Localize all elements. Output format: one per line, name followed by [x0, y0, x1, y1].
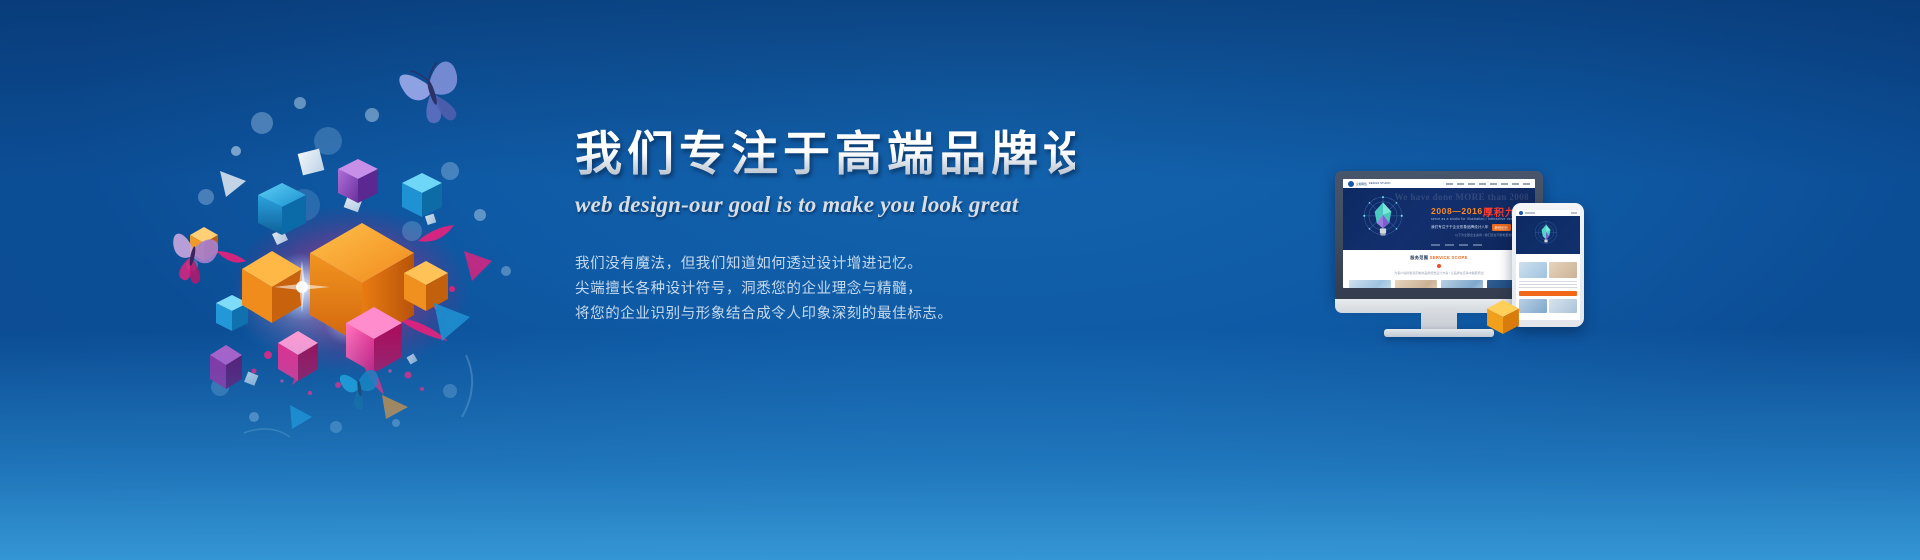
site-service-section: 服务范围 SERVICE SCOPE 为客户提供量身定制的品牌视觉设计方案 / … [1343, 250, 1535, 288]
thumbnail-grid [1343, 275, 1535, 288]
monitor-stand-base [1384, 329, 1494, 337]
page-title: 我们专注于高端品牌设计 [575, 128, 1075, 181]
nav-item[interactable] [1501, 183, 1508, 185]
hero-years: 2008—2016 [1431, 206, 1483, 216]
nav-item[interactable] [1523, 183, 1530, 185]
nav-item[interactable] [1512, 183, 1519, 185]
text-line [1519, 284, 1577, 285]
hero-cta-text: 我们专注于于企业形象品牌设计八年 [1431, 225, 1489, 230]
butterfly-icon [397, 58, 470, 132]
nav-item[interactable] [1468, 183, 1475, 185]
monitor-screen: 尖端网络 DESIGN STUDIO [1343, 179, 1535, 288]
phone-thumb[interactable] [1519, 262, 1547, 278]
page-subtitle: web design-our goal is to make you look … [575, 192, 1075, 218]
phone-thumb[interactable] [1549, 299, 1577, 313]
description-line: 尖端擅长各种设计符号，洞悉您的企业理念与精髓， [575, 277, 1075, 302]
text-line [1519, 281, 1577, 282]
floating-cube-icon [1487, 300, 1519, 334]
phone-bottom-grid [1516, 296, 1580, 316]
site-header: 尖端网络 DESIGN STUDIO [1343, 179, 1535, 188]
phone-logo-text [1525, 212, 1535, 214]
section-title: 服务范围 SERVICE SCOPE [1343, 255, 1535, 261]
monitor-stand-neck [1421, 308, 1457, 331]
lightbulb-network-icon [1530, 219, 1562, 251]
section-title-accent: SERVICE SCOPE [1430, 255, 1468, 260]
hero-cta-row: 我们专注于于企业形象品牌设计八年 新世纪元 [1431, 224, 1511, 231]
thumbnail-item[interactable] [1441, 280, 1483, 288]
text-line [1519, 287, 1577, 288]
description-line: 将您的企业识别与形象结合成令人印象深刻的最佳标志。 [575, 302, 1075, 327]
abstract-cubes-artwork [150, 55, 570, 455]
slider-dot[interactable] [1473, 244, 1482, 246]
logo-mark-icon [1348, 181, 1354, 187]
thumbnail-item[interactable] [1395, 280, 1437, 288]
butterfly-icon [339, 369, 382, 412]
hero-ghost-text: We have done MORE than 2008 [1394, 192, 1529, 202]
section-title-text: 服务范围 [1410, 255, 1428, 260]
site-nav[interactable] [1446, 183, 1530, 185]
phone-thumb[interactable] [1549, 262, 1577, 278]
phone-text-lines [1516, 281, 1580, 288]
hero-banner: 我们专注于高端品牌设计 web design-our goal is to ma… [0, 0, 1920, 560]
site-hero: We have done MORE than 2008 2008—2016 厚积… [1343, 188, 1535, 250]
slider-dot[interactable] [1445, 244, 1454, 246]
hero-cta-button[interactable]: 新世纪元 [1492, 224, 1512, 231]
slider-dot[interactable] [1459, 244, 1468, 246]
nav-item[interactable] [1490, 183, 1497, 185]
description-line: 我们没有魔法，但我们知道如何透过设计增进记忆。 [575, 252, 1075, 277]
site-logo: 尖端网络 DESIGN STUDIO [1348, 181, 1391, 187]
site-logo-subtext: DESIGN STUDIO [1369, 182, 1391, 185]
mobile-phone-mockup [1512, 203, 1584, 327]
banner-copy: 我们专注于高端品牌设计 web design-our goal is to ma… [575, 128, 1075, 327]
slider-dot[interactable] [1431, 244, 1440, 246]
phone-screen [1516, 210, 1580, 320]
nav-item[interactable] [1479, 183, 1486, 185]
hero-slider-dots[interactable] [1431, 244, 1482, 246]
nav-item[interactable] [1446, 183, 1453, 185]
device-mockup-group: 尖端网络 DESIGN STUDIO [1330, 160, 1620, 390]
nav-item[interactable] [1457, 183, 1464, 185]
phone-menu-icon[interactable] [1571, 212, 1577, 214]
banner-description: 我们没有魔法，但我们知道如何透过设计增进记忆。 尖端擅长各种设计符号，洞悉您的企… [575, 252, 1075, 327]
phone-logo-icon [1519, 211, 1523, 215]
phone-thumb[interactable] [1519, 299, 1547, 313]
thumbnail-item[interactable] [1349, 280, 1391, 288]
site-logo-text: 尖端网络 [1356, 182, 1367, 186]
phone-thumb-grid [1516, 259, 1580, 281]
phone-hero [1516, 216, 1580, 254]
section-divider-dot [1437, 264, 1441, 268]
